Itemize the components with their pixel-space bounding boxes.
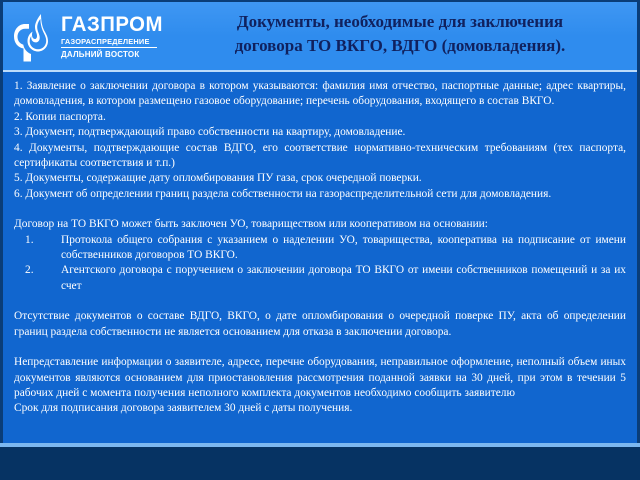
paragraph-signing-term: Срок для подписания договора заявителем … xyxy=(14,401,626,416)
logo-subtitle-region: ДАЛЬНИЙ ВОСТОК xyxy=(61,50,159,59)
footer-highlight-edge xyxy=(0,443,640,447)
logo-wordmark: ГАЗПРОМ xyxy=(61,14,156,35)
list-item-label: Агентского договора с поручением о заклю… xyxy=(61,264,626,291)
list-item: 1. Протокола общего собрания с указанием… xyxy=(14,233,626,264)
list-item-marker: 1. xyxy=(25,233,34,248)
document-item-1: 1. Заявление о заключении договора в кот… xyxy=(14,79,626,110)
slide-footer xyxy=(0,443,640,480)
list-item-marker: 2. xyxy=(25,263,34,278)
gazprom-flame-icon xyxy=(11,10,63,66)
paragraph-absence-of-documents: Отсутствие документов о составе ВДГО, ВК… xyxy=(14,309,626,340)
page-title: Документы, необходимые для заключения до… xyxy=(165,10,635,58)
paragraph-nonsubmission: Непредставление информации о заявителе, … xyxy=(14,355,626,401)
slide-header: ГАЗПРОМ ГАЗОРАСПРЕДЕЛЕНИЕ ДАЛЬНИЙ ВОСТОК… xyxy=(0,0,640,72)
logo-subtitle-primary: ГАЗОРАСПРЕДЕЛЕНИЕ xyxy=(61,37,157,48)
page-title-line-2: договора ТО ВКГО, ВДГО (домовладения). xyxy=(165,34,635,58)
document-item-6: 6. Документ об определении границ раздел… xyxy=(14,187,626,202)
list-item: 2. Агентского договора с поручением о за… xyxy=(14,263,626,294)
slide-body: 1. Заявление о заключении договора в кот… xyxy=(0,72,640,443)
contract-basis-list: 1. Протокола общего собрания с указанием… xyxy=(14,233,626,295)
document-item-3: 3. Документ, подтверждающий право собств… xyxy=(14,125,626,140)
document-item-2: 2. Копии паспорта. xyxy=(14,110,626,125)
document-item-5: 5. Документы, содержащие дату опломбиров… xyxy=(14,171,626,186)
list-item-label: Протокола общего собрания с указанием о … xyxy=(61,234,626,261)
slide-canvas: ГАЗПРОМ ГАЗОРАСПРЕДЕЛЕНИЕ ДАЛЬНИЙ ВОСТОК… xyxy=(0,0,640,480)
gazprom-logo-text: ГАЗПРОМ ГАЗОРАСПРЕДЕЛЕНИЕ ДАЛЬНИЙ ВОСТОК xyxy=(61,14,159,59)
contract-basis-intro: Договор на ТО ВКГО может быть заключен У… xyxy=(14,217,626,232)
document-item-4: 4. Документы, подтверждающие состав ВДГО… xyxy=(14,141,626,172)
gazprom-logo: ГАЗПРОМ ГАЗОРАСПРЕДЕЛЕНИЕ ДАЛЬНИЙ ВОСТОК xyxy=(9,8,159,68)
page-title-line-1: Документы, необходимые для заключения xyxy=(165,10,635,34)
